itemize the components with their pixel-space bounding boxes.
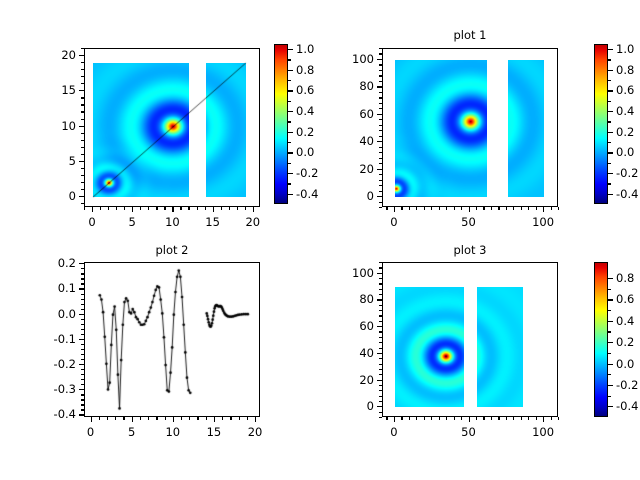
- colorbar-tick-minor: [608, 353, 611, 354]
- colorbar-tick: [288, 90, 293, 91]
- x-tick-minor: [424, 417, 425, 420]
- y-tick-minor: [379, 97, 382, 98]
- colorbar-0: [274, 44, 288, 204]
- y-tick-minor: [379, 289, 382, 290]
- x-tick-major: [132, 207, 133, 212]
- x-tick-minor: [107, 417, 108, 420]
- x-tick-minor: [528, 417, 529, 420]
- y-tick-minor: [379, 158, 382, 159]
- colorbar-tick-label: 0.4: [616, 314, 634, 328]
- x-tick-minor: [247, 417, 248, 420]
- colorbar-tick-minor: [608, 331, 611, 332]
- y-tick-minor: [81, 168, 84, 169]
- x-tick-minor: [189, 417, 190, 420]
- x-tick-major: [214, 417, 215, 422]
- x-tick-major: [172, 207, 173, 212]
- x-tick-minor: [140, 417, 141, 420]
- colorbar-tick: [608, 152, 613, 153]
- axes-frame-3: [382, 262, 558, 417]
- y-tick-major: [377, 141, 382, 142]
- x-tick-major: [91, 417, 92, 422]
- heatmap-patch: [395, 287, 464, 407]
- y-tick-label: 0: [367, 399, 374, 413]
- y-tick-major: [377, 114, 382, 115]
- x-tick-minor: [424, 207, 425, 210]
- colorbar-tick-label: 0.2: [616, 125, 634, 139]
- y-tick-minor: [81, 111, 84, 112]
- x-tick-minor: [84, 207, 85, 210]
- colorbar-tick: [608, 111, 613, 112]
- x-tick-minor: [476, 207, 477, 210]
- y-tick-major: [377, 299, 382, 300]
- x-tick-minor: [197, 417, 198, 420]
- x-tick-minor: [506, 207, 507, 210]
- x-tick-major: [173, 417, 174, 422]
- y-tick-minor: [379, 342, 382, 343]
- colorbar-tick-label: -0.2: [616, 378, 638, 392]
- y-tick-minor: [379, 417, 382, 418]
- x-tick-minor: [558, 207, 559, 210]
- y-tick-minor: [81, 354, 84, 355]
- x-tick-major: [543, 417, 544, 422]
- y-tick-minor: [379, 103, 382, 104]
- y-tick-label: 15: [61, 83, 76, 97]
- colorbar-tick-minor: [608, 396, 611, 397]
- colorbar-tick: [608, 321, 613, 322]
- y-tick-minor: [379, 267, 382, 268]
- colorbar-3: [594, 262, 608, 417]
- y-tick-minor: [81, 119, 84, 120]
- y-tick-minor: [379, 321, 382, 322]
- y-tick-minor: [379, 125, 382, 126]
- colorbar-tick-minor: [608, 101, 611, 102]
- y-tick-minor: [81, 404, 84, 405]
- y-tick-minor: [379, 207, 382, 208]
- x-tick-minor: [116, 207, 117, 210]
- y-tick-label: 0: [69, 189, 76, 203]
- colorbar-tick-minor: [608, 142, 611, 143]
- y-tick-minor: [81, 268, 84, 269]
- x-tick-label: 10: [165, 425, 180, 439]
- y-tick-major: [79, 90, 84, 91]
- colorbar-tick-label: -0.4: [616, 187, 638, 201]
- colorbar-tick-label: -0.2: [616, 166, 638, 180]
- x-tick-major: [469, 207, 470, 212]
- x-tick-minor: [386, 207, 387, 210]
- x-tick-minor: [239, 417, 240, 420]
- y-tick-major: [377, 353, 382, 354]
- x-tick-minor: [123, 417, 124, 420]
- x-tick-minor: [245, 207, 246, 210]
- y-tick-minor: [81, 97, 84, 98]
- x-tick-label: 5: [129, 215, 136, 229]
- y-tick-minor: [81, 62, 84, 63]
- x-tick-minor: [100, 207, 101, 210]
- x-tick-label: 0: [87, 425, 94, 439]
- y-tick-label: 20: [61, 48, 76, 62]
- y-tick-minor: [379, 147, 382, 148]
- y-tick-minor: [379, 92, 382, 93]
- y-tick-minor: [379, 364, 382, 365]
- x-tick-minor: [416, 417, 417, 420]
- y-tick-major: [377, 380, 382, 381]
- x-tick-minor: [156, 207, 157, 210]
- y-tick-minor: [81, 76, 84, 77]
- y-tick-minor: [379, 180, 382, 181]
- x-tick-minor: [409, 207, 410, 210]
- x-tick-minor: [156, 417, 157, 420]
- x-tick-minor: [439, 207, 440, 210]
- y-tick-minor: [379, 163, 382, 164]
- colorbar-tick-minor: [608, 59, 611, 60]
- x-tick-minor: [551, 417, 552, 420]
- x-tick-major: [253, 207, 254, 212]
- x-tick-major: [469, 417, 470, 422]
- heatmap-patch: [477, 287, 523, 407]
- x-tick-minor: [164, 207, 165, 210]
- colorbar-1: [594, 44, 608, 204]
- colorbar-tick: [288, 111, 293, 112]
- x-tick-major: [394, 207, 395, 212]
- x-tick-minor: [491, 207, 492, 210]
- colorbar-tick-minor: [288, 163, 291, 164]
- y-tick-minor: [81, 48, 84, 49]
- y-tick-minor: [81, 175, 84, 176]
- x-tick-major: [543, 207, 544, 212]
- y-tick-minor: [379, 385, 382, 386]
- colorbar-tick: [288, 194, 293, 195]
- colorbar-tick-minor: [288, 142, 291, 143]
- y-tick-major: [377, 59, 382, 60]
- x-tick-minor: [461, 207, 462, 210]
- colorbar-tick-label: 0.8: [616, 271, 634, 285]
- colorbar-tick-label: 0.4: [296, 104, 314, 118]
- subplot-title-3: plot 3: [410, 243, 530, 257]
- x-tick-minor: [401, 207, 402, 210]
- y-tick-minor: [81, 182, 84, 183]
- y-tick-minor: [379, 358, 382, 359]
- colorbar-tick-label: -0.4: [296, 187, 318, 201]
- colorbar-tick: [608, 299, 613, 300]
- x-tick-minor: [446, 417, 447, 420]
- y-tick-minor: [379, 75, 382, 76]
- y-tick-minor: [81, 283, 84, 284]
- y-tick-minor: [379, 348, 382, 349]
- y-tick-minor: [81, 69, 84, 70]
- y-tick-major: [79, 55, 84, 56]
- colorbar-tick-label: 1.0: [616, 42, 634, 56]
- colorbar-tick: [608, 70, 613, 71]
- colorbar-tick-label: 0.0: [616, 357, 634, 371]
- x-tick-label: 0: [88, 215, 95, 229]
- y-tick-minor: [379, 136, 382, 137]
- colorbar-tick-label: 0.2: [616, 335, 634, 349]
- colorbar-tick: [288, 70, 293, 71]
- colorbar-tick: [288, 49, 293, 50]
- x-tick-minor: [483, 207, 484, 210]
- x-tick-minor: [148, 207, 149, 210]
- y-tick-major: [377, 326, 382, 327]
- x-tick-label: 20: [248, 425, 263, 439]
- y-tick-label: -0.2: [54, 357, 76, 371]
- colorbar-tick-minor: [608, 289, 611, 290]
- y-tick-minor: [379, 390, 382, 391]
- colorbar-tick: [288, 152, 293, 153]
- x-tick-minor: [513, 207, 514, 210]
- x-tick-minor: [521, 417, 522, 420]
- y-tick-minor: [81, 344, 84, 345]
- x-tick-minor: [237, 207, 238, 210]
- y-tick-minor: [81, 133, 84, 134]
- y-tick-minor: [379, 152, 382, 153]
- x-tick-major: [213, 207, 214, 212]
- colorbar-tick: [288, 173, 293, 174]
- y-tick-label: 40: [359, 134, 374, 148]
- colorbar-tick-minor: [608, 163, 611, 164]
- y-tick-label: 40: [359, 346, 374, 360]
- colorbar-tick-minor: [608, 374, 611, 375]
- diagonal-overlay-line: [85, 49, 260, 207]
- y-tick-minor: [81, 329, 84, 330]
- y-tick-minor: [81, 334, 84, 335]
- x-tick-minor: [536, 207, 537, 210]
- x-tick-label: 50: [461, 425, 476, 439]
- y-tick-label: 80: [359, 292, 374, 306]
- line-series-canvas: [85, 263, 260, 417]
- y-tick-minor: [379, 401, 382, 402]
- heatmap-patch: [395, 60, 487, 197]
- x-tick-minor: [454, 207, 455, 210]
- colorbar-tick-minor: [608, 121, 611, 122]
- y-tick-major: [79, 288, 84, 289]
- x-tick-minor: [409, 417, 410, 420]
- x-tick-label: 0: [390, 215, 397, 229]
- colorbar-tick-label: -0.4: [616, 399, 638, 413]
- y-tick-major: [377, 273, 382, 274]
- y-tick-minor: [379, 337, 382, 338]
- x-tick-minor: [506, 417, 507, 420]
- figure-canvas: 05101520051015201.00.80.60.40.20.0-0.2-0…: [0, 0, 640, 480]
- x-tick-label: 15: [205, 215, 220, 229]
- y-tick-label: 100: [352, 266, 374, 280]
- y-tick-major: [79, 314, 84, 315]
- y-tick-minor: [81, 379, 84, 380]
- x-tick-minor: [386, 417, 387, 420]
- x-tick-minor: [476, 417, 477, 420]
- y-tick-major: [377, 406, 382, 407]
- y-tick-label: 0.0: [58, 307, 76, 321]
- y-tick-minor: [379, 64, 382, 65]
- y-tick-label: 0.1: [58, 281, 76, 295]
- x-tick-minor: [124, 207, 125, 210]
- colorbar-tick-minor: [608, 183, 611, 184]
- y-tick-minor: [81, 189, 84, 190]
- x-tick-minor: [229, 207, 230, 210]
- y-tick-minor: [379, 331, 382, 332]
- y-tick-minor: [379, 174, 382, 175]
- x-tick-minor: [431, 207, 432, 210]
- colorbar-tick: [608, 132, 613, 133]
- y-tick-label: 20: [359, 162, 374, 176]
- y-tick-minor: [81, 278, 84, 279]
- colorbar-tick: [608, 194, 613, 195]
- y-tick-minor: [81, 154, 84, 155]
- y-tick-minor: [81, 319, 84, 320]
- y-tick-minor: [81, 273, 84, 274]
- colorbar-tick-label: 0.0: [296, 145, 314, 159]
- y-tick-minor: [379, 191, 382, 192]
- axes-frame-1: [382, 48, 558, 207]
- x-tick-minor: [165, 417, 166, 420]
- x-tick-minor: [521, 207, 522, 210]
- colorbar-tick: [608, 278, 613, 279]
- y-tick-label: -0.1: [54, 332, 76, 346]
- x-tick-minor: [551, 207, 552, 210]
- x-tick-minor: [222, 417, 223, 420]
- colorbar-tick: [608, 342, 613, 343]
- heatmap-patch: [508, 60, 544, 197]
- y-tick-label: 60: [359, 319, 374, 333]
- x-tick-minor: [188, 207, 189, 210]
- x-tick-minor: [230, 417, 231, 420]
- y-tick-major: [79, 161, 84, 162]
- x-tick-minor: [431, 417, 432, 420]
- x-tick-minor: [180, 207, 181, 210]
- y-tick-minor: [81, 394, 84, 395]
- y-tick-minor: [379, 185, 382, 186]
- colorbar-tick-label: 0.6: [616, 292, 634, 306]
- y-tick-major: [377, 169, 382, 170]
- x-tick-label: 50: [461, 215, 476, 229]
- colorbar-tick-label: 0.4: [616, 104, 634, 118]
- x-tick-minor: [483, 417, 484, 420]
- y-tick-minor: [379, 108, 382, 109]
- x-tick-label: 20: [245, 215, 260, 229]
- y-tick-minor: [81, 359, 84, 360]
- colorbar-tick: [608, 49, 613, 50]
- y-tick-minor: [379, 202, 382, 203]
- colorbar-tick-minor: [608, 80, 611, 81]
- subplot-title-2: plot 2: [112, 243, 232, 257]
- x-tick-minor: [446, 207, 447, 210]
- colorbar-tick-label: 1.0: [296, 42, 314, 56]
- y-tick-major: [79, 126, 84, 127]
- y-tick-minor: [81, 203, 84, 204]
- y-tick-minor: [379, 53, 382, 54]
- y-tick-minor: [81, 140, 84, 141]
- colorbar-tick-minor: [288, 59, 291, 60]
- x-tick-minor: [558, 417, 559, 420]
- x-tick-label: 100: [532, 215, 554, 229]
- y-tick-minor: [379, 412, 382, 413]
- y-tick-major: [79, 196, 84, 197]
- y-tick-label: -0.4: [54, 407, 76, 421]
- y-tick-major: [377, 86, 382, 87]
- y-tick-minor: [81, 309, 84, 310]
- y-tick-minor: [379, 369, 382, 370]
- x-tick-minor: [148, 417, 149, 420]
- y-tick-minor: [379, 130, 382, 131]
- colorbar-tick-label: -0.2: [296, 166, 318, 180]
- colorbar-tick-minor: [288, 183, 291, 184]
- y-tick-minor: [379, 305, 382, 306]
- y-tick-major: [79, 263, 84, 264]
- x-tick-minor: [140, 207, 141, 210]
- colorbar-tick-label: 0.8: [616, 63, 634, 77]
- y-tick-minor: [81, 104, 84, 105]
- colorbar-tick: [608, 364, 613, 365]
- axes-frame-0: [84, 48, 260, 207]
- y-tick-label: 20: [359, 373, 374, 387]
- y-tick-label: 100: [352, 52, 374, 66]
- y-tick-minor: [81, 369, 84, 370]
- x-tick-minor: [416, 207, 417, 210]
- y-tick-label: 5: [69, 154, 76, 168]
- y-tick-minor: [379, 315, 382, 316]
- x-tick-major: [92, 207, 93, 212]
- x-tick-minor: [115, 417, 116, 420]
- y-tick-minor: [379, 374, 382, 375]
- x-tick-minor: [221, 207, 222, 210]
- x-tick-label: 15: [207, 425, 222, 439]
- y-tick-minor: [379, 294, 382, 295]
- y-tick-minor: [379, 278, 382, 279]
- y-tick-major: [79, 414, 84, 415]
- y-tick-major: [377, 196, 382, 197]
- colorbar-tick: [288, 132, 293, 133]
- y-tick-minor: [81, 409, 84, 410]
- y-tick-label: -0.3: [54, 382, 76, 396]
- y-tick-minor: [81, 324, 84, 325]
- x-tick-label: 10: [165, 215, 180, 229]
- x-tick-major: [394, 417, 395, 422]
- colorbar-tick: [608, 173, 613, 174]
- y-tick-major: [79, 389, 84, 390]
- x-tick-major: [132, 417, 133, 422]
- y-tick-minor: [379, 119, 382, 120]
- colorbar-tick: [608, 90, 613, 91]
- y-tick-minor: [81, 349, 84, 350]
- y-tick-label: 60: [359, 107, 374, 121]
- colorbar-tick-minor: [288, 80, 291, 81]
- colorbar-tick: [608, 385, 613, 386]
- y-tick-minor: [379, 262, 382, 263]
- x-tick-minor: [181, 417, 182, 420]
- colorbar-tick-minor: [288, 121, 291, 122]
- x-tick-label: 0: [390, 425, 397, 439]
- y-tick-minor: [379, 81, 382, 82]
- colorbar-tick: [608, 406, 613, 407]
- x-tick-minor: [454, 417, 455, 420]
- y-tick-major: [79, 339, 84, 340]
- colorbar-tick-label: 0.2: [296, 125, 314, 139]
- y-tick-label: 0: [367, 189, 374, 203]
- x-tick-minor: [401, 417, 402, 420]
- y-tick-major: [79, 364, 84, 365]
- y-tick-minor: [379, 396, 382, 397]
- x-tick-minor: [498, 207, 499, 210]
- x-tick-label: 5: [128, 425, 135, 439]
- x-tick-label: 100: [532, 425, 554, 439]
- colorbar-tick-minor: [288, 101, 291, 102]
- colorbar-tick-minor: [608, 310, 611, 311]
- y-tick-minor: [81, 374, 84, 375]
- y-tick-minor: [81, 147, 84, 148]
- x-tick-minor: [99, 417, 100, 420]
- y-tick-minor: [81, 384, 84, 385]
- colorbar-tick-label: 0.6: [616, 83, 634, 97]
- x-tick-minor: [108, 207, 109, 210]
